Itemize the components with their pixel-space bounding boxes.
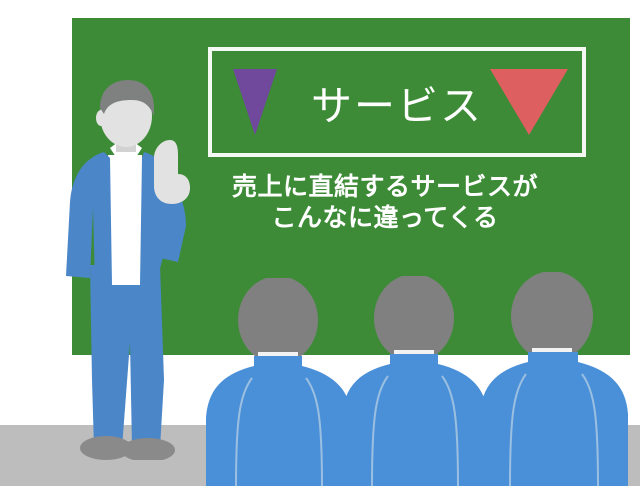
presenter-figure <box>60 80 220 460</box>
illustration-canvas: サービス 売上に直結するサービスが こんなに違ってくる <box>0 0 640 486</box>
board-title: サービス <box>208 62 586 142</box>
subtitle-line-2: こんなに違ってくる <box>150 203 620 234</box>
audience-member-3 <box>476 272 640 486</box>
presenter-artwork <box>60 80 220 460</box>
subtitle-line-1: 売上に直結するサービスが <box>150 172 620 203</box>
board-subtitle: 売上に直結するサービスが こんなに違ってくる <box>150 172 620 234</box>
audience-artwork-3 <box>476 272 640 486</box>
